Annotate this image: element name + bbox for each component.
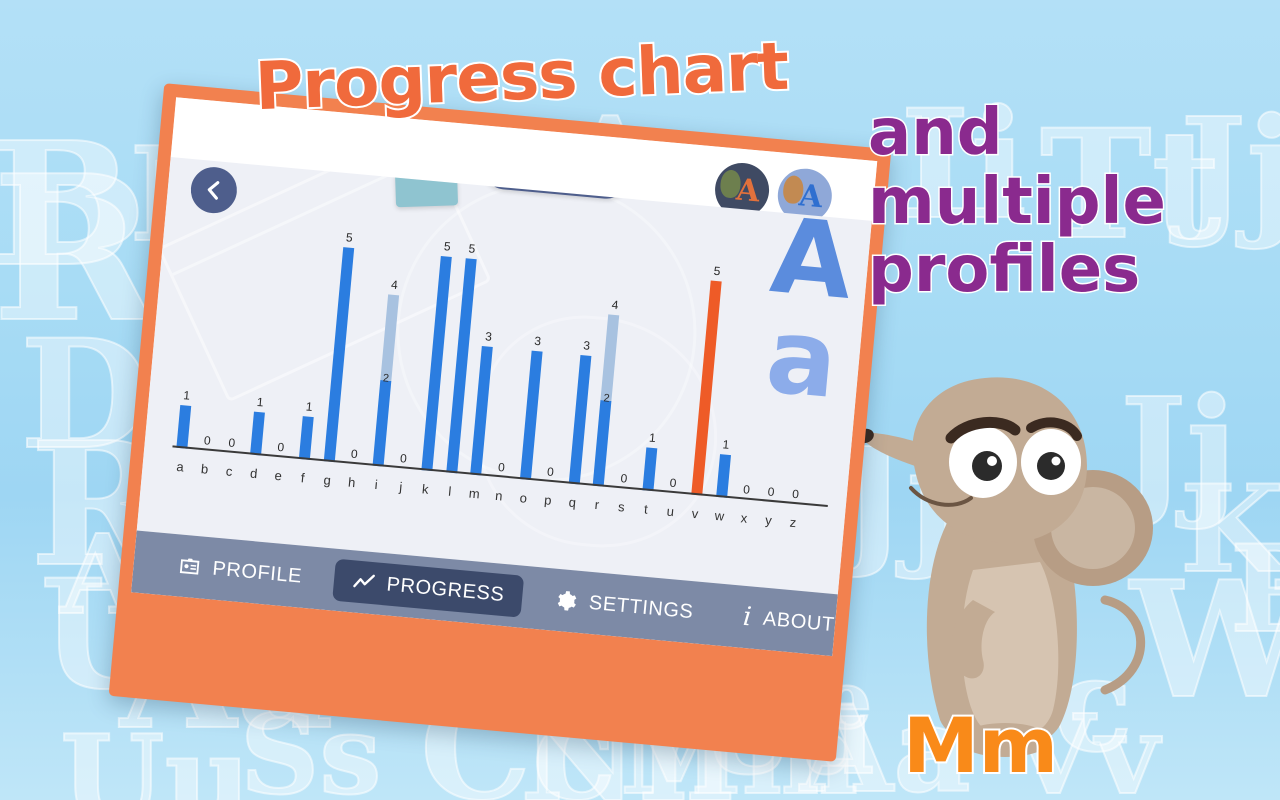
bar-value-label: 5 [713,264,721,279]
bar-completed-segment [250,412,265,456]
bar-value-label: 3 [485,329,493,344]
bar-value-label: 0 [203,433,211,448]
bar-completed-segment [299,416,314,460]
bar-value-label: 0 [399,451,407,466]
nav-item-progress[interactable]: PROGRESS [332,559,524,618]
subhead-line-2: multiple [868,169,1166,236]
x-axis-tick-d: d [244,465,264,482]
bar-value-label: 1 [648,431,656,446]
bar [250,412,265,456]
app-content: Kid's name A a 1001015042055303034201051… [137,157,872,594]
x-axis-tick-r: r [587,496,607,513]
nav-label: ABOUT [762,607,836,636]
bar-value-label: 0 [792,487,800,502]
bar [520,351,543,480]
bar-value-label: 5 [443,239,451,254]
bar-value-label: 3 [583,338,591,353]
bar-value-label: 0 [767,485,775,500]
profile-avatar-letter: A [798,178,824,215]
x-axis-tick-x: x [734,510,754,527]
bar-completed-segment [176,405,191,449]
line-chart-icon [351,569,377,595]
page-title: Progress chart [254,28,790,125]
nav-item-settings[interactable]: SETTINGS [534,577,713,635]
bar-completed-segment [593,400,612,487]
x-axis-tick-w: w [709,507,729,524]
bar-value-label: 1 [305,399,313,414]
x-axis-tick-h: h [342,474,362,491]
bar-inner-label: 2 [603,392,610,405]
bar [642,447,657,491]
bar-completed-segment [471,346,494,475]
bar [176,405,191,449]
bar-completed-segment [569,355,592,484]
x-axis-tick-i: i [366,476,386,493]
id-card-icon [177,553,203,579]
bar-value-label: 4 [611,298,619,313]
x-axis-tick-o: o [513,490,533,507]
x-axis-tick-c: c [219,463,239,480]
bar-completed-segment [372,380,391,467]
background-letter: Pp [1230,530,1280,650]
bar-value-label: 5 [468,241,476,256]
bar-value-label: 0 [743,482,751,497]
bar-value-label: 4 [390,278,398,293]
nav-label: PROFILE [212,557,303,588]
bar-value-label: 0 [620,471,628,486]
bar-completed-segment [642,447,657,491]
promo-subheadline: and multiple profiles [868,100,1166,306]
x-axis-tick-z: z [783,514,803,531]
x-axis-tick-f: f [293,470,313,487]
x-axis-tick-p: p [538,492,558,509]
x-axis-tick-u: u [660,503,680,520]
background-letter: B [0,120,134,290]
background-letter: Kk [1180,470,1280,590]
tablet-screen: A A [131,97,877,656]
bar-value-label: 1 [256,395,264,410]
background-letter: Uu [60,720,252,800]
bar-value-label: 5 [345,230,353,245]
x-axis-tick-e: e [268,467,288,484]
x-axis-tick-q: q [562,494,582,511]
x-axis-tick-g: g [317,472,337,489]
mascot-letter: Mm [903,701,1058,790]
bar-value-label: 1 [183,388,191,403]
bar [569,355,592,484]
subhead-line-3: profiles [868,237,1166,304]
info-icon: i [742,604,753,631]
bar-value-label: 0 [546,465,554,480]
bar-inner-label: 2 [382,372,389,385]
x-axis-tick-t: t [636,501,656,518]
bar-value-label: 1 [722,437,730,452]
x-axis-tick-k: k [415,481,435,498]
bar-value-label: 0 [350,447,358,462]
nav-label: PROGRESS [386,573,506,607]
profile-avatar-letter: A [735,172,761,209]
gear-icon [553,588,579,614]
bar [716,454,731,498]
bar-value-label: 0 [228,435,236,450]
x-axis-tick-m: m [464,485,484,502]
bar-value-label: 0 [277,440,285,455]
background-letter: R [0,150,158,350]
bar-remaining-segment: 2 [380,294,399,381]
bar-value-label: 0 [497,460,505,475]
progress-chart: 1001015042055303034201051000 abcdefghijk… [168,170,870,553]
x-axis-tick-b: b [195,461,215,478]
mouse-mascot [855,270,1155,770]
bar-completed-segment [716,454,731,498]
x-axis-tick-y: y [758,512,778,529]
x-axis-tick-j: j [391,478,411,495]
nav-item-profile[interactable]: PROFILE [158,543,322,599]
x-axis-tick-l: l [440,483,460,500]
x-axis-tick-s: s [611,499,631,516]
tablet-device: A A [109,83,892,762]
x-axis-tick-v: v [685,505,705,522]
bar-value-label: 0 [669,476,677,491]
bar [299,416,314,460]
bar-completed-segment [520,351,543,480]
x-axis-tick-a: a [170,458,190,475]
subhead-line-1: and [868,100,1166,167]
bar [471,346,494,475]
bar-value-label: 3 [534,334,542,349]
x-axis-tick-n: n [489,487,509,504]
nav-label: SETTINGS [588,591,694,623]
bar-remaining-segment: 2 [601,314,620,401]
background-letter: Jj [1180,100,1280,240]
